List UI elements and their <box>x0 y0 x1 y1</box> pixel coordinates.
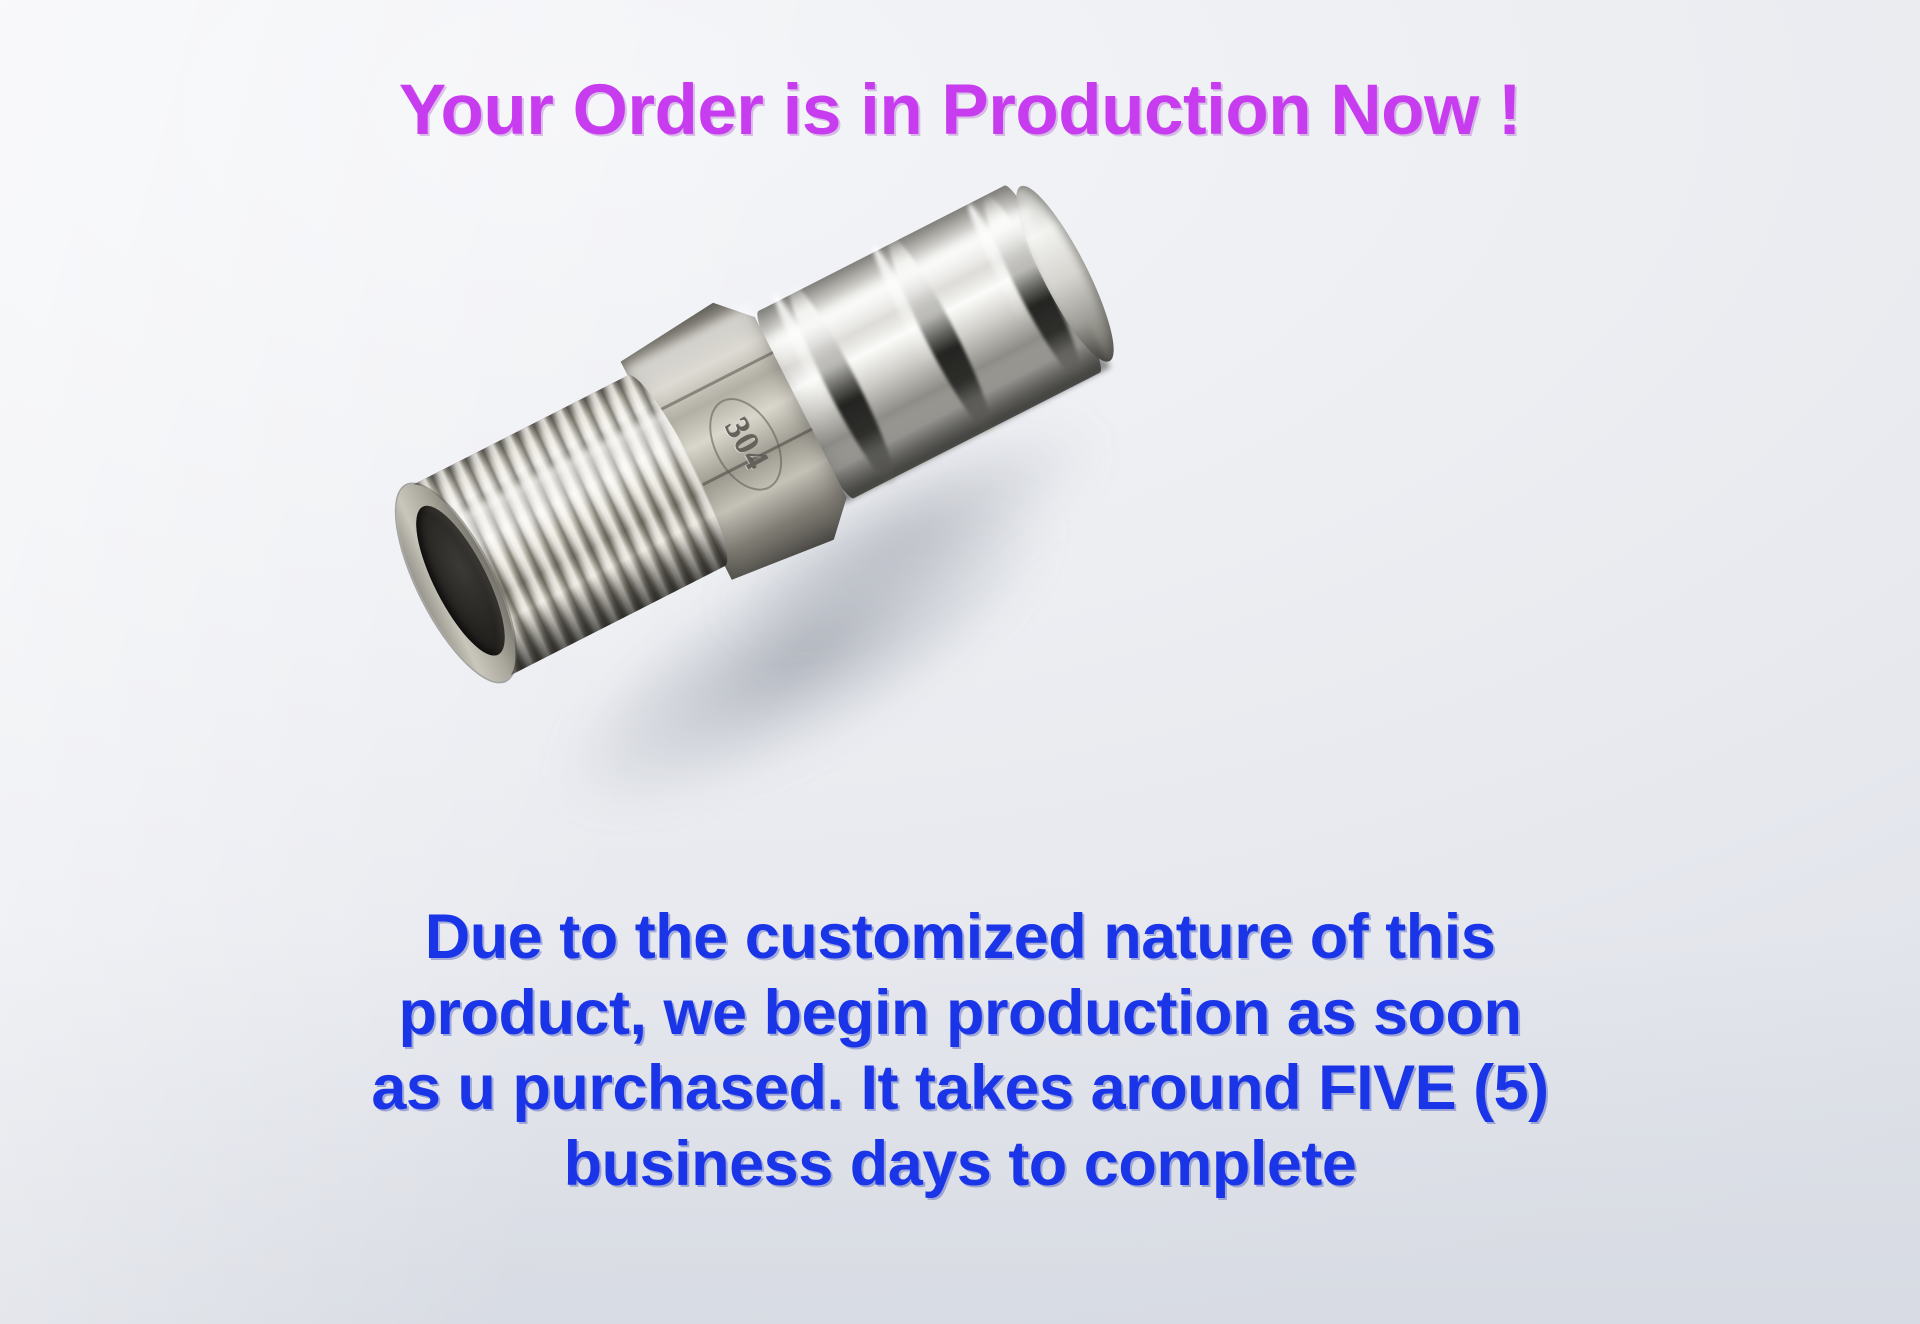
bodycopy-line-1: Due to the customized nature of this <box>0 900 1920 976</box>
bodycopy-line-3: as u purchased. It takes around FIVE (5) <box>0 1051 1920 1127</box>
bodycopy-text: Due to the customized nature of this pro… <box>0 900 1920 1202</box>
notice-image: Your Order is in Production Now ! 304 <box>0 0 1920 1324</box>
bodycopy-line-2: product, we begin production as soon <box>0 976 1920 1052</box>
bodycopy-line-4: business days to complete <box>0 1127 1920 1203</box>
